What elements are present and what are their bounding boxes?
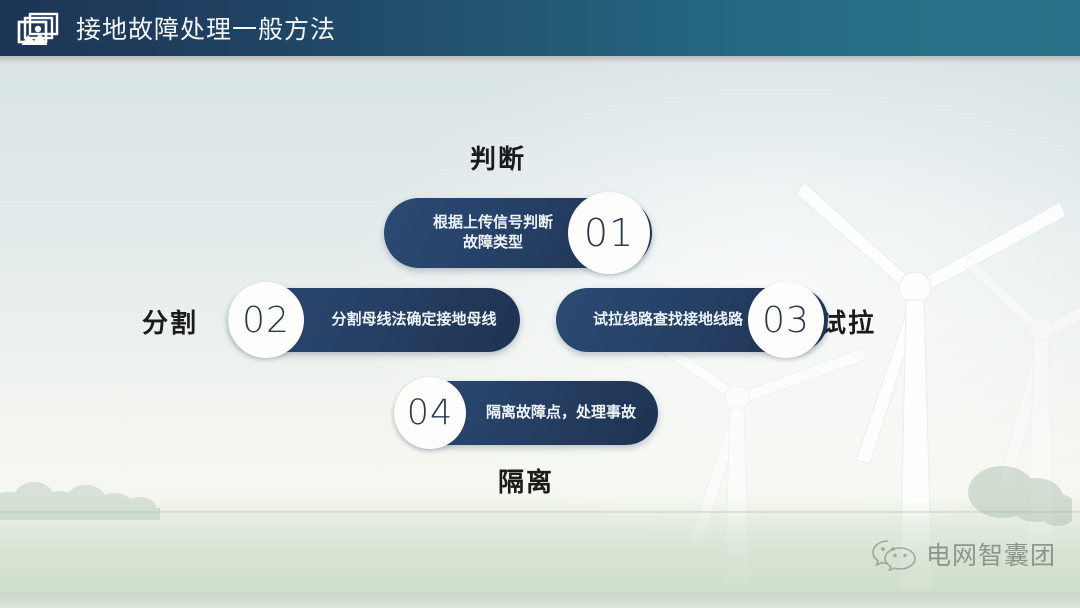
header-bar: 接地故障处理一般方法 xyxy=(0,0,1080,56)
stage-label-split: 分割 xyxy=(142,303,198,340)
stage-label-trial: 试拉 xyxy=(820,303,876,340)
flow-step-02-text: 分割母线法确定接地母线 xyxy=(314,310,514,330)
flow-step-02-number[interactable]: 02 xyxy=(228,282,304,358)
bush-icon xyxy=(962,456,1072,526)
images-stack-icon xyxy=(16,11,62,45)
flow-step-01-number[interactable]: 01 xyxy=(568,192,650,274)
bottom-strip xyxy=(0,592,1080,608)
wechat-icon xyxy=(872,537,916,571)
slide-canvas: 接地故障处理一般方法 判断 分割 试拉 隔离 根据上传信号判断 故障类型 01 … xyxy=(0,0,1080,608)
stage-label-judge: 判断 xyxy=(470,139,526,176)
watermark-text: 电网智囊团 xyxy=(926,536,1056,572)
tree-cluster-icon xyxy=(0,474,165,520)
flow-step-03-text: 试拉线路查找接地线路 xyxy=(570,310,766,330)
page-title: 接地故障处理一般方法 xyxy=(76,10,336,46)
flow-step-04-text: 隔离故障点，处理事故 xyxy=(468,403,654,423)
watermark: 电网智囊团 xyxy=(872,536,1056,572)
header-divider xyxy=(0,56,1080,63)
flow-step-04-number[interactable]: 04 xyxy=(394,377,466,449)
flow-step-03-number[interactable]: 03 xyxy=(748,282,824,358)
stage-label-isolate: 隔离 xyxy=(498,462,554,499)
flow-step-01-text: 根据上传信号判断 故障类型 xyxy=(398,213,588,254)
